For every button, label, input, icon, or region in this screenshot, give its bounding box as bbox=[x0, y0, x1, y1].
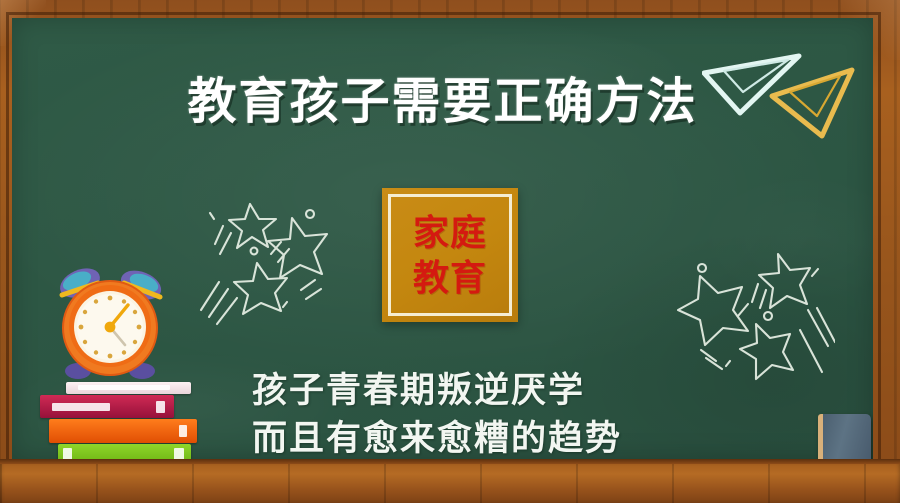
card-line-1: 家庭 bbox=[413, 215, 487, 251]
page-title: 教育孩子需要正确方法 bbox=[12, 62, 873, 133]
family-education-card-inner: 家庭 教育 bbox=[388, 194, 512, 316]
subtitle-line-1: 孩子青春期叛逆厌学 bbox=[252, 367, 682, 415]
chalk-ledge-lip bbox=[0, 459, 900, 464]
family-education-card: 家庭 教育 bbox=[382, 188, 518, 322]
card-line-2: 教育 bbox=[413, 260, 487, 296]
subtitle-block: 孩子青春期叛逆厌学 而且有愈来愈糟的趋势 bbox=[252, 367, 682, 459]
book-orange bbox=[49, 419, 197, 443]
subtitle-line-2: 而且有愈来愈糟的趋势 bbox=[252, 415, 682, 459]
chalkboard-surface: 教育孩子需要正确方法 bbox=[12, 18, 873, 459]
book-green bbox=[58, 444, 191, 459]
board-eraser-icon bbox=[818, 414, 871, 459]
chalk-stars-right-decoration bbox=[660, 246, 835, 391]
chalk-ledge bbox=[0, 459, 900, 503]
chalkboard-poster: 教育孩子需要正确方法 bbox=[0, 0, 900, 503]
chalk-stars-left-decoration bbox=[197, 186, 337, 331]
alarm-clock-icon bbox=[50, 261, 170, 392]
